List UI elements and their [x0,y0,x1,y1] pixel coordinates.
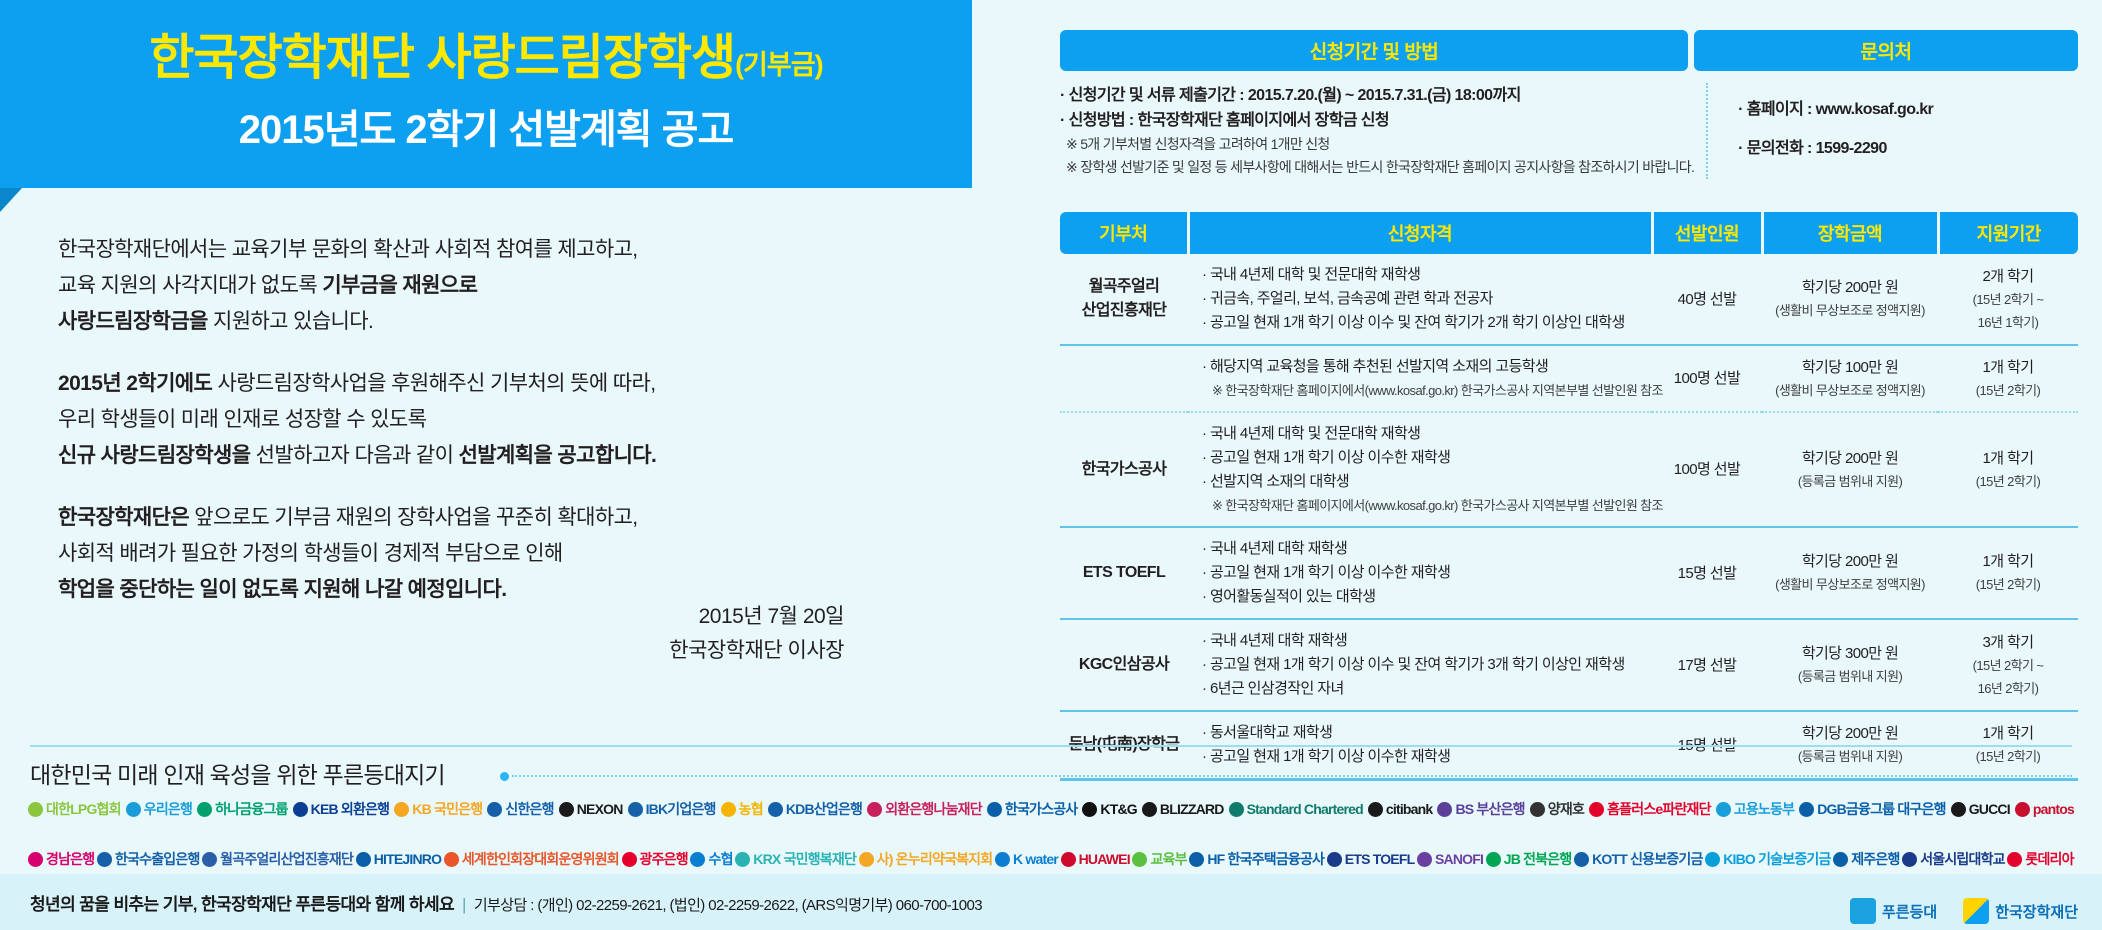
sponsor-mark-icon [721,802,736,817]
cell-count: 15명 선발 [1652,527,1762,619]
sponsor-logo: 양재호 [1530,799,1584,819]
period-sub: (15년 2학기) [1942,470,2074,493]
sponsor-logo-label: K water [1013,851,1058,867]
amount-main: 학기당 200만 원 [1766,722,1934,745]
kosaf-logo: 한국장학재단 [1963,898,2078,924]
th-count: 선발인원 [1652,212,1762,254]
sponsor-mark-icon [126,802,141,817]
sponsor-logo: 월곡주얼리산업진흥재단 [202,849,353,869]
sponsor-mark-icon [1368,802,1383,817]
sponsor-logo-label: DGB금융그룹 대구은행 [1817,799,1945,819]
amount-sub: (생활비 무상보조로 정액지원) [1766,299,1934,322]
table-body: 월곡주얼리산업진흥재단· 국내 4년제 대학 및 전문대학 재학생· 귀금속, … [1060,254,2078,778]
sponsor-mark-icon [859,852,874,867]
period-main: 1개 학기 [1942,447,2074,470]
sponsor-logo: KDB산업은행 [768,799,862,819]
sponsor-logo: BLIZZARD [1142,801,1224,817]
p2-line3b: 선발하고자 다음과 같이 [250,444,458,467]
pureundaedae-logo: 푸른등대 [1850,898,1937,924]
qualification-note: ※ 한국장학재단 홈페이지에서(www.kosaf.go.kr) 한국가스공사 … [1202,379,1648,402]
sponsor-dotted-rule [512,775,2072,777]
sponsor-mark-icon [559,802,574,817]
qualification-item: · 국내 4년제 대학 재학생 [1202,537,1648,561]
sponsor-mark-icon [1189,852,1204,867]
sponsor-mark-icon [197,802,212,817]
cell-qualification: · 해당지역 교육청을 통해 추천된 선발지역 소재의 고등학생※ 한국장학재단… [1188,345,1652,412]
sponsor-mark-icon [1574,852,1589,867]
sponsor-logo: 농협 [721,799,763,819]
sponsor-mark-icon [1417,852,1432,867]
amount-main: 학기당 100만 원 [1766,356,1934,379]
paragraph-2: 2015년 2학기에도 사랑드림장학사업을 후원해주신 기부처의 뜻에 따라, … [58,366,878,474]
period-main: 1개 학기 [1942,722,2074,745]
qualification-item: · 공고일 현재 1개 학기 이상 이수한 재학생 [1202,745,1648,769]
paragraph-1: 한국장학재단에서는 교육기부 문화의 확산과 사회적 참여를 제고하고, 교육 … [58,232,878,340]
sponsor-mark-icon [1486,852,1501,867]
qualification-item: · 공고일 현재 1개 학기 이상 이수 및 잔여 학기가 3개 학기 이상인 … [1202,653,1648,677]
title-paren: (기부금) [735,50,823,80]
sponsor-logo-label: KIBO 기술보증기금 [1723,849,1830,869]
sponsor-mark-icon [995,852,1010,867]
sponsor-mark-icon [1705,852,1720,867]
sponsor-mark-icon [28,802,43,817]
cell-count: 100명 선발 [1652,412,1762,527]
cell-donor [1060,345,1188,412]
table-row: KGC인삼공사· 국내 4년제 대학 재학생· 공고일 현재 1개 학기 이상 … [1060,619,2078,711]
sponsor-logo-label: IBK기업은행 [646,799,716,819]
sponsor-logo: NEXON [559,801,623,817]
sponsor-logo: 광주은행 [622,849,688,869]
sponsor-logo: 한국가스공사 [987,799,1077,819]
amount-main: 학기당 200만 원 [1766,276,1934,299]
sponsor-logo: KIBO 기술보증기금 [1705,849,1830,869]
qualification-item: · 6년근 인삼경작인 자녀 [1202,677,1648,701]
application-period-line: · 신청기간 및 서류 제출기간 : 2015.7.20.(월) ~ 2015.… [1060,83,1694,108]
qualification-item: · 영어활동실적이 있는 대학생 [1202,585,1648,609]
amount-main: 학기당 200만 원 [1766,447,1934,470]
sponsor-mark-icon [1951,802,1966,817]
amount-sub: (등록금 범위내 지원) [1766,745,1934,768]
scholarship-table: 기부처 신청자격 선발인원 장학금액 지원기간 월곡주얼리산업진흥재단· 국내 … [1060,212,2078,778]
sponsor-logo: DGB금융그룹 대구은행 [1799,799,1945,819]
title-main-text: 한국장학재단 사랑드림장학생 [149,31,735,85]
sponsor-dot-marker [500,772,509,781]
amount-sub: (생활비 무상보조로 정액지원) [1766,573,1934,596]
sponsor-logo-label: 광주은행 [640,849,688,869]
poster-root: 한국장학재단 사랑드림장학생(기부금) 2015년도 2학기 선발계획 공고 한… [0,0,2102,930]
signature-name: 한국장학재단 이사장 [444,634,844,668]
cell-period: 1개 학기(15년 2학기) [1938,527,2078,619]
amount-main: 학기당 200만 원 [1766,550,1934,573]
qualification-item: · 국내 4년제 대학 및 전문대학 재학생 [1202,263,1648,287]
period-sub: (15년 2학기) [1942,379,2074,402]
sponsor-logo: 우리은행 [126,799,192,819]
sponsor-logo-label: 교육부 [1150,849,1186,869]
contact-phone: · 문의전화 : 1599-2290 [1738,136,2078,161]
p2-line2: 우리 학생들이 미래 인재로 성장할 수 있도록 [58,408,426,431]
sponsor-mark-icon [28,852,43,867]
sponsor-heading: 대한민국 미래 인재 육성을 위한 푸른등대지기 [30,756,445,790]
sponsor-logo-label: 롯데리아 [2025,849,2073,869]
donor-name-line: ETS TOEFL [1064,561,1184,585]
sponsor-logo-label: SANOFI [1435,851,1483,867]
sponsor-mark-icon [487,802,502,817]
footer-logos: 푸른등대 한국장학재단 [1850,898,2078,924]
amount-sub: (등록금 범위내 지원) [1766,665,1934,688]
kosaf-mark-icon [1963,898,1989,924]
qualification-item: · 공고일 현재 1개 학기 이상 이수한 재학생 [1202,561,1648,585]
sponsor-logo: KT&G [1082,801,1136,817]
sponsor-logo-label: HITEJINRO [374,851,441,867]
sponsor-logo: BS 부산은행 [1437,799,1524,819]
period-sub: (15년 2학기 ~ [1942,654,2074,677]
info-headers: 신청기간 및 방법 문의처 [1060,30,2078,71]
cell-qualification: · 국내 4년제 대학 및 전문대학 재학생· 귀금속, 주얼리, 보석, 금속… [1188,254,1652,345]
footer-bar: 청년의 꿈을 비추는 기부, 한국장학재단 푸른등대와 함께 하세요|기부상담 … [0,874,2102,930]
donor-name-line: KGC인삼공사 [1064,653,1184,677]
sponsor-logo-label: KRX 국민행복재단 [753,849,856,869]
sponsor-mark-icon [768,802,783,817]
sponsor-logo-label: KT&G [1100,801,1136,817]
p1-line2b: 기부금을 재원으로 [322,274,477,297]
cell-donor: 한국가스공사 [1060,412,1188,527]
cell-qualification: · 국내 4년제 대학 재학생· 공고일 현재 1개 학기 이상 이수 및 잔여… [1188,619,1652,711]
sponsor-logo-row-1: 대한LPG협회우리은행하나금융그룹KEB 외환은행KB 국민은행신한은행NEXO… [28,790,2074,828]
sponsor-mark-icon [1799,802,1814,817]
cell-qualification: · 국내 4년제 대학 및 전문대학 재학생· 공고일 현재 1개 학기 이상 … [1188,412,1652,527]
sponsor-logo-row-2: 경남은행한국수출입은행월곡주얼리산업진흥재단HITEJINRO세계한인회장대회운… [28,840,2074,878]
sponsor-logo: HUAWEI [1061,851,1130,867]
sponsor-mark-icon [622,852,637,867]
sponsor-logo-label: 제주은행 [1851,849,1899,869]
sponsor-logo-label: 한국가스공사 [1005,799,1077,819]
contact-homepage[interactable]: · 홈페이지 : www.kosaf.go.kr [1738,97,2078,122]
donor-name-line: 한국가스공사 [1064,458,1184,482]
sponsor-logo: citibank [1368,801,1433,817]
kosaf-label: 한국장학재단 [1995,901,2078,922]
sponsor-mark-icon [1327,852,1342,867]
cell-amount: 학기당 100만 원(생활비 무상보조로 정액지원) [1762,345,1938,412]
scholarship-table-area: 기부처 신청자격 선발인원 장학금액 지원기간 월곡주얼리산업진흥재단· 국내 … [1060,212,2078,781]
sponsor-logo: 신한은행 [487,799,553,819]
sponsor-logo-label: Standard Chartered [1247,801,1363,817]
sponsor-mark-icon [1437,802,1452,817]
application-note-1: ※ 5개 기부처별 신청자격을 고려하여 1개만 신청 [1060,133,1694,156]
p1-line1: 한국장학재단에서는 교육기부 문화의 확산과 사회적 참여를 제고하고, [58,238,638,261]
cell-period: 3개 학기(15년 2학기 ~16년 2학기) [1938,619,2078,711]
sponsor-logo-label: HUAWEI [1079,851,1130,867]
qualification-item: · 국내 4년제 대학 및 전문대학 재학생 [1202,422,1648,446]
th-qualification: 신청자격 [1188,212,1652,254]
sponsor-logo: SANOFI [1417,851,1483,867]
th-amount: 장학금액 [1762,212,1938,254]
sponsor-logo-label: BS 부산은행 [1455,799,1524,819]
signature-block: 2015년 7월 20일 한국장학재단 이사장 [444,600,844,668]
sponsor-logo-label: KEB 외환은행 [311,799,390,819]
sponsor-logo: IBK기업은행 [628,799,716,819]
sponsor-logo-label: 신한은행 [505,799,553,819]
footer-separator: | [462,895,466,914]
qualification-item: · 귀금속, 주얼리, 보석, 금속공예 관련 학과 전공자 [1202,287,1648,311]
info-body-contact: · 홈페이지 : www.kosaf.go.kr · 문의전화 : 1599-2… [1714,83,2078,179]
sponsor-mark-icon [394,802,409,817]
table-row: ETS TOEFL· 국내 4년제 대학 재학생· 공고일 현재 1개 학기 이… [1060,527,2078,619]
qualification-note: ※ 한국장학재단 홈페이지에서(www.kosaf.go.kr) 한국가스공사 … [1202,494,1648,517]
qualification-item: · 동서울대학교 재학생 [1202,721,1648,745]
sponsor-logo: pantos [2015,801,2074,817]
sponsor-logo-label: 고용노동부 [1734,799,1794,819]
signature-date: 2015년 7월 20일 [444,600,844,634]
sponsor-mark-icon [735,852,750,867]
donor-name-line: 산업진흥재단 [1064,299,1184,323]
period-main: 1개 학기 [1942,356,2074,379]
sponsor-logo: Standard Chartered [1229,801,1363,817]
table-header-row: 기부처 신청자격 선발인원 장학금액 지원기간 [1060,212,2078,254]
p2-line1a: 2015년 2학기에도 [58,372,217,395]
sponsor-mark-icon [987,802,1002,817]
cell-amount: 학기당 200만 원(생활비 무상보조로 정액지원) [1762,254,1938,345]
period-main: 3개 학기 [1942,631,2074,654]
p2-line3c: 선발계획을 공고합니다. [459,444,657,467]
cell-count: 17명 선발 [1652,619,1762,711]
sponsor-logo: KRX 국민행복재단 [735,849,856,869]
cell-donor: ETS TOEFL [1060,527,1188,619]
sponsor-mark-icon [1082,802,1097,817]
sponsor-logo: 외환은행나눔재단 [867,799,982,819]
period-sub: 16년 1학기) [1942,311,2074,334]
sponsor-logo: 고용노동부 [1716,799,1794,819]
sponsor-logo: 하나금융그룹 [197,799,287,819]
sponsor-mark-icon [2007,852,2022,867]
sponsor-logo-label: 수협 [708,849,732,869]
sponsor-logo: HITEJINRO [356,851,441,867]
sponsor-mark-icon [1530,802,1545,817]
sponsor-logo-label: KB 국민은행 [412,799,482,819]
sponsor-logo-label: pantos [2033,801,2074,817]
sponsor-logo-label: 서울시립대학교 [1920,849,2005,869]
sponsor-mark-icon [1716,802,1731,817]
lighthouse-icon [1850,898,1876,924]
sponsor-logo-label: NEXON [577,801,623,817]
sponsor-logo: JB 전북은행 [1486,849,1572,869]
cell-amount: 학기당 200만 원(등록금 범위내 지원) [1762,412,1938,527]
cell-period: 1개 학기(15년 2학기) [1938,345,2078,412]
p2-line3a: 신규 사랑드림장학생을 [58,444,250,467]
qualification-item: · 공고일 현재 1개 학기 이상 이수한 재학생 [1202,446,1648,470]
sponsor-logo-label: KDB산업은행 [786,799,862,819]
sponsor-logo-label: 월곡주얼리산업진흥재단 [220,849,353,869]
period-sub: 16년 2학기) [1942,677,2074,700]
p1-line3b: 지원하고 있습니다. [208,310,373,333]
sponsor-mark-icon [1229,802,1244,817]
cell-period: 1개 학기(15년 2학기) [1938,412,2078,527]
cell-donor: 월곡주얼리산업진흥재단 [1060,254,1188,345]
sponsor-mark-icon [690,852,705,867]
qualification-item: · 공고일 현재 1개 학기 이상 이수 및 잔여 학기가 2개 학기 이상인 … [1202,311,1648,335]
cell-amount: 학기당 200만 원(생활비 무상보조로 정액지원) [1762,527,1938,619]
application-note-2: ※ 장학생 선발기준 및 일정 등 세부사항에 대해서는 반드시 한국장학재단 … [1060,156,1694,179]
announcement-body: 한국장학재단에서는 교육기부 문화의 확산과 사회적 참여를 제고하고, 교육 … [58,232,878,634]
qualification-item: · 해당지역 교육청을 통해 추천된 선발지역 소재의 고등학생 [1202,355,1648,379]
table-head: 기부처 신청자격 선발인원 장학금액 지원기간 [1060,212,2078,254]
footer-text: 청년의 꿈을 비추는 기부, 한국장학재단 푸른등대와 함께 하세요|기부상담 … [30,890,982,915]
footer-main-text: 청년의 꿈을 비추는 기부, 한국장학재단 푸른등대와 함께 하세요 [30,895,454,914]
sponsor-logo: ETS TOEFL [1327,851,1415,867]
banner-notch-decoration [0,188,22,212]
sponsor-mark-icon [1833,852,1848,867]
info-header-contact: 문의처 [1694,30,2078,71]
sponsor-logo: 제주은행 [1833,849,1899,869]
amount-sub: (생활비 무상보조로 정액지원) [1766,379,1934,402]
sponsor-logo-label: 사) 온누리약국복지회 [877,849,993,869]
period-main: 2개 학기 [1942,265,2074,288]
sponsor-mark-icon [1902,852,1917,867]
sponsor-logo-label: 경남은행 [46,849,94,869]
sponsor-logo-label: 한국수출입은행 [115,849,200,869]
cell-amount: 학기당 300만 원(등록금 범위내 지원) [1762,619,1938,711]
cell-period: 2개 학기(15년 2학기 ~16년 1학기) [1938,254,2078,345]
info-boxes: 신청기간 및 방법 문의처 · 신청기간 및 서류 제출기간 : 2015.7.… [1060,30,2078,179]
sponsor-logo: KEB 외환은행 [293,799,390,819]
sponsor-logo-label: JB 전북은행 [1504,849,1572,869]
sponsor-mark-icon [1589,802,1604,817]
sponsor-logo-label: citibank [1386,801,1433,817]
sponsor-mark-icon [356,852,371,867]
sponsor-mark-icon [97,852,112,867]
application-method-line: · 신청방법 : 한국장학재단 홈페이지에서 장학금 신청 [1060,108,1694,133]
p3-line2: 사회적 배려가 필요한 가정의 학생들이 경제적 부담으로 인해 [58,542,563,565]
p3-line3: 학업을 중단하는 일이 없도록 지원해 나갈 예정입니다. [58,578,506,601]
sponsor-logo-label: BLIZZARD [1160,801,1224,817]
period-sub: (15년 2학기) [1942,745,2074,768]
sponsor-logo: 사) 온누리약국복지회 [859,849,993,869]
sponsor-mark-icon [202,852,217,867]
sponsor-mark-icon [867,802,882,817]
period-sub: (15년 2학기) [1942,573,2074,596]
sponsor-logo: KOTT 신용보증기금 [1574,849,1702,869]
footer-contact-text: 기부상담 : (개인) 02-2259-2621, (법인) 02-2259-2… [474,897,982,914]
title-main: 한국장학재단 사랑드림장학생(기부금) [149,33,822,84]
sponsor-logo-label: 대한LPG협회 [46,799,121,819]
p1-line3a: 사랑드림장학금을 [58,310,208,333]
title-banner: 한국장학재단 사랑드림장학생(기부금) 2015년도 2학기 선발계획 공고 [0,0,972,188]
sponsor-mark-icon [1061,852,1076,867]
cell-count: 100명 선발 [1652,345,1762,412]
table-row: 한국가스공사· 국내 4년제 대학 및 전문대학 재학생· 공고일 현재 1개 … [1060,412,2078,527]
pureundaedae-label: 푸른등대 [1882,901,1937,922]
qualification-item: · 국내 4년제 대학 재학생 [1202,629,1648,653]
sponsor-logo: GUCCI [1951,801,2010,817]
period-sub: (15년 2학기 ~ [1942,288,2074,311]
sponsor-logo-label: 하나금융그룹 [215,799,287,819]
table-row: · 해당지역 교육청을 통해 추천된 선발지역 소재의 고등학생※ 한국장학재단… [1060,345,2078,412]
sponsor-logo-label: GUCCI [1969,801,2010,817]
sponsor-logo: 세계한인회장대회운영위원회 [444,849,619,869]
sponsor-logo: KB 국민은행 [394,799,482,819]
sponsor-divider [30,745,2072,747]
sponsor-logo-label: 농협 [739,799,763,819]
donor-name-line: 월곡주얼리 [1064,275,1184,299]
th-period: 지원기간 [1938,212,2078,254]
sponsor-mark-icon [1132,852,1147,867]
sponsor-mark-icon [2015,802,2030,817]
amount-sub: (등록금 범위내 지원) [1766,470,1934,493]
th-donor: 기부처 [1060,212,1188,254]
p3-line1b: 앞으로도 기부금 재원의 장학사업을 꾸준히 확대하고, [194,506,637,529]
sponsor-logo: 경남은행 [28,849,94,869]
sponsor-mark-icon [293,802,308,817]
sponsor-logo-label: 외환은행나눔재단 [885,799,982,819]
cell-qualification: · 국내 4년제 대학 재학생· 공고일 현재 1개 학기 이상 이수한 재학생… [1188,527,1652,619]
sponsor-mark-icon [628,802,643,817]
sponsor-logo-label: 양재호 [1548,799,1584,819]
sponsor-logo: HF 한국주택금융공사 [1189,849,1324,869]
sponsor-logo: 수협 [690,849,732,869]
sponsor-logo: 서울시립대학교 [1902,849,2005,869]
sponsor-logo-label: HF 한국주택금융공사 [1207,849,1324,869]
period-main: 1개 학기 [1942,550,2074,573]
info-header-application: 신청기간 및 방법 [1060,30,1688,71]
cell-donor: KGC인삼공사 [1060,619,1188,711]
sponsor-logo-label: ETS TOEFL [1345,851,1415,867]
p3-line1a: 한국장학재단은 [58,506,194,529]
sponsor-logo: 롯데리아 [2007,849,2073,869]
sponsor-logo: 홈플러스e파란재단 [1589,799,1711,819]
cell-count: 40명 선발 [1652,254,1762,345]
table-row: 월곡주얼리산업진흥재단· 국내 4년제 대학 및 전문대학 재학생· 귀금속, … [1060,254,2078,345]
p1-line2a: 교육 지원의 사각지대가 없도록 [58,274,322,297]
sponsor-mark-icon [444,852,459,867]
amount-main: 학기당 300만 원 [1766,642,1934,665]
sponsor-logo: K water [995,851,1058,867]
info-bodies: · 신청기간 및 서류 제출기간 : 2015.7.20.(월) ~ 2015.… [1060,83,2078,179]
sponsor-logo: 대한LPG협회 [28,799,121,819]
sponsor-logo-label: 홈플러스e파란재단 [1607,799,1711,819]
sponsor-logo: 교육부 [1132,849,1186,869]
info-body-application: · 신청기간 및 서류 제출기간 : 2015.7.20.(월) ~ 2015.… [1060,83,1708,179]
sponsor-logo-label: KOTT 신용보증기금 [1592,849,1702,869]
title-sub: 2015년도 2학기 선발계획 공고 [239,97,734,155]
sponsor-mark-icon [1142,802,1157,817]
sponsor-logo-label: 세계한인회장대회운영위원회 [462,849,619,869]
sponsor-logo: 한국수출입은행 [97,849,200,869]
sponsor-logo-label: 우리은행 [144,799,192,819]
p2-line1b: 사랑드림장학사업을 후원해주신 기부처의 뜻에 따라, [217,372,655,395]
qualification-item: · 선발지역 소재의 대학생 [1202,470,1648,494]
sponsor-dotted-line [500,772,2072,780]
paragraph-3: 한국장학재단은 앞으로도 기부금 재원의 장학사업을 꾸준히 확대하고, 사회적… [58,500,878,608]
